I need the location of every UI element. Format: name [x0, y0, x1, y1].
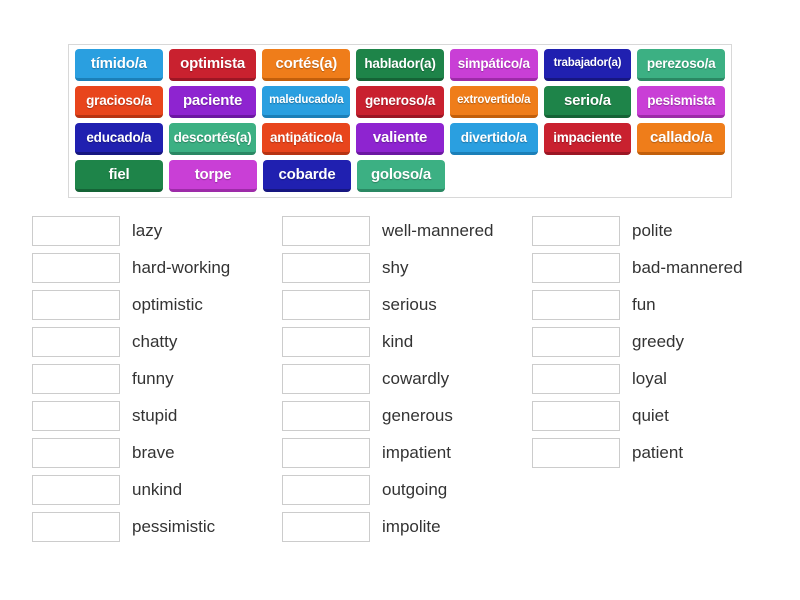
drop-box[interactable]	[32, 327, 120, 357]
answer-row: hard-working	[32, 249, 282, 286]
drop-box[interactable]	[282, 290, 370, 320]
answer-label: optimistic	[132, 296, 203, 313]
drop-box[interactable]	[32, 512, 120, 542]
drop-box[interactable]	[32, 216, 120, 246]
answer-row: chatty	[32, 323, 282, 360]
answer-label: impatient	[382, 444, 451, 461]
word-tile[interactable]: hablador(a)	[356, 49, 444, 81]
answer-label: well-mannered	[382, 222, 494, 239]
answer-row: kind	[282, 323, 532, 360]
answer-label: stupid	[132, 407, 177, 424]
word-tile[interactable]: valiente	[356, 123, 444, 155]
word-tile[interactable]: antipático/a	[262, 123, 350, 155]
word-tile[interactable]: divertido/a	[450, 123, 538, 155]
answer-label: generous	[382, 407, 453, 424]
word-tile[interactable]: goloso/a	[357, 160, 445, 192]
drop-box[interactable]	[532, 401, 620, 431]
drop-box[interactable]	[282, 512, 370, 542]
answer-row: serious	[282, 286, 532, 323]
drop-box[interactable]	[532, 216, 620, 246]
answer-list: lazyhard-workingoptimisticchattyfunnystu…	[32, 212, 784, 545]
word-tile[interactable]: extrovertido/a	[450, 86, 538, 118]
answer-row: shy	[282, 249, 532, 286]
answer-row: unkind	[32, 471, 282, 508]
word-tile[interactable]: maleducado/a	[262, 86, 350, 118]
answer-label: pessimistic	[132, 518, 215, 535]
drop-box[interactable]	[282, 364, 370, 394]
drop-box[interactable]	[32, 401, 120, 431]
drop-box[interactable]	[32, 475, 120, 505]
answer-label: funny	[132, 370, 174, 387]
answer-row: well-mannered	[282, 212, 532, 249]
drop-box[interactable]	[532, 253, 620, 283]
answer-column: well-manneredshyseriouskindcowardlygener…	[282, 212, 532, 545]
answer-label: polite	[632, 222, 673, 239]
answer-row: optimistic	[32, 286, 282, 323]
answer-label: loyal	[632, 370, 667, 387]
word-tile[interactable]: trabajador(a)	[544, 49, 632, 81]
tile-row: gracioso/apacientemaleducado/ageneroso/a…	[69, 86, 731, 118]
answer-label: fun	[632, 296, 656, 313]
answer-row: impatient	[282, 434, 532, 471]
tile-row: fieltorpecobardegoloso/a	[69, 160, 731, 192]
answer-row: quiet	[532, 397, 782, 434]
answer-row: greedy	[532, 323, 782, 360]
answer-label: lazy	[132, 222, 162, 239]
word-tile[interactable]: simpático/a	[450, 49, 538, 81]
answer-label: kind	[382, 333, 413, 350]
answer-label: shy	[382, 259, 408, 276]
drop-box[interactable]	[32, 364, 120, 394]
word-tile[interactable]: perezoso/a	[637, 49, 725, 81]
answer-label: quiet	[632, 407, 669, 424]
answer-row: impolite	[282, 508, 532, 545]
answer-row: generous	[282, 397, 532, 434]
drop-box[interactable]	[282, 216, 370, 246]
drop-box[interactable]	[32, 438, 120, 468]
answer-column: politebad-manneredfungreedyloyalquietpat…	[532, 212, 782, 545]
drop-box[interactable]	[282, 438, 370, 468]
answer-row: lazy	[32, 212, 282, 249]
drop-box[interactable]	[532, 327, 620, 357]
word-tile-bank: tímido/aoptimistacortés(a)hablador(a)sim…	[68, 44, 732, 198]
drop-box[interactable]	[282, 475, 370, 505]
word-tile[interactable]: cortés(a)	[262, 49, 350, 81]
word-tile[interactable]: callado/a	[637, 123, 725, 155]
answer-row: polite	[532, 212, 782, 249]
answer-label: unkind	[132, 481, 182, 498]
tile-row: educado/adescortés(a)antipático/avalient…	[69, 123, 731, 155]
word-tile[interactable]: pesismista	[637, 86, 725, 118]
tile-row: tímido/aoptimistacortés(a)hablador(a)sim…	[69, 49, 731, 81]
answer-row: stupid	[32, 397, 282, 434]
answer-label: brave	[132, 444, 175, 461]
answer-label: hard-working	[132, 259, 230, 276]
answer-label: greedy	[632, 333, 684, 350]
drop-box[interactable]	[282, 253, 370, 283]
drop-box[interactable]	[282, 401, 370, 431]
answer-row: funny	[32, 360, 282, 397]
word-tile[interactable]: paciente	[169, 86, 257, 118]
word-tile[interactable]: educado/a	[75, 123, 163, 155]
word-tile[interactable]: tímido/a	[75, 49, 163, 81]
drop-box[interactable]	[32, 290, 120, 320]
drop-box[interactable]	[32, 253, 120, 283]
answer-row: patient	[532, 434, 782, 471]
answer-row: fun	[532, 286, 782, 323]
word-tile[interactable]: serio/a	[544, 86, 632, 118]
answer-label: outgoing	[382, 481, 447, 498]
answer-row: outgoing	[282, 471, 532, 508]
word-tile[interactable]: torpe	[169, 160, 257, 192]
answer-label: impolite	[382, 518, 441, 535]
answer-row: bad-mannered	[532, 249, 782, 286]
answer-row: brave	[32, 434, 282, 471]
word-tile[interactable]: cobarde	[263, 160, 351, 192]
word-tile[interactable]: impaciente	[544, 123, 632, 155]
drop-box[interactable]	[532, 290, 620, 320]
word-tile[interactable]: generoso/a	[356, 86, 444, 118]
answer-label: serious	[382, 296, 437, 313]
answer-label: bad-mannered	[632, 259, 743, 276]
drop-box[interactable]	[532, 364, 620, 394]
word-tile[interactable]: descortés(a)	[169, 123, 257, 155]
answer-row: loyal	[532, 360, 782, 397]
answer-row: pessimistic	[32, 508, 282, 545]
word-tile[interactable]: optimista	[169, 49, 257, 81]
answer-row: cowardly	[282, 360, 532, 397]
answer-label: cowardly	[382, 370, 449, 387]
drop-box[interactable]	[532, 438, 620, 468]
drop-box[interactable]	[282, 327, 370, 357]
word-tile[interactable]: fiel	[75, 160, 163, 192]
answer-column: lazyhard-workingoptimisticchattyfunnystu…	[32, 212, 282, 545]
answer-label: chatty	[132, 333, 177, 350]
word-tile[interactable]: gracioso/a	[75, 86, 163, 118]
answer-label: patient	[632, 444, 683, 461]
